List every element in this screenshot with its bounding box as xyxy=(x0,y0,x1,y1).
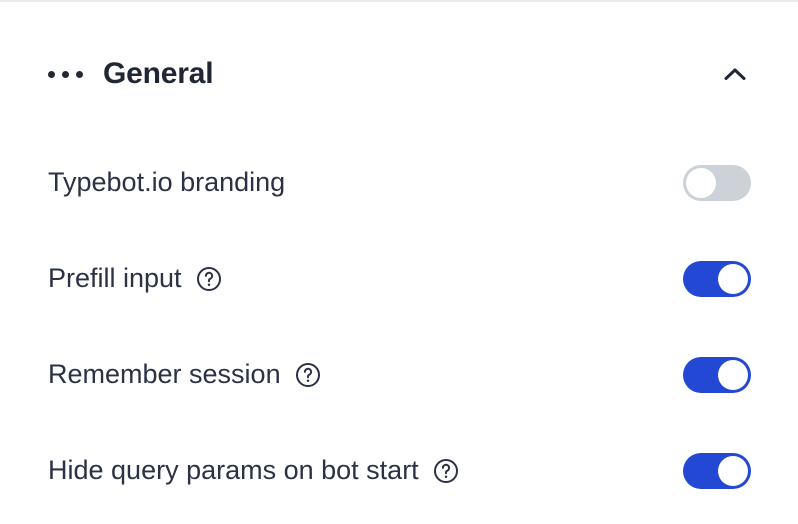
drag-dot xyxy=(76,71,83,78)
setting-label-group: Prefill input xyxy=(48,264,222,294)
setting-label: Hide query params on bot start xyxy=(48,456,419,486)
toggle-remember-session[interactable] xyxy=(683,357,751,393)
toggle-knob xyxy=(718,456,748,486)
general-settings-panel: General Typebot.io branding Prefill inpu… xyxy=(0,0,798,524)
help-circle-icon[interactable] xyxy=(433,458,459,484)
setting-label: Prefill input xyxy=(48,264,182,294)
setting-label-group: Typebot.io branding xyxy=(48,168,285,198)
chevron-up-icon xyxy=(724,67,746,81)
setting-label-group: Remember session xyxy=(48,360,321,390)
toggle-knob xyxy=(686,168,716,198)
toggle-knob xyxy=(718,264,748,294)
drag-dot xyxy=(62,71,69,78)
help-circle-icon[interactable] xyxy=(196,266,222,292)
setting-row-remember-session: Remember session xyxy=(0,327,798,423)
setting-label: Remember session xyxy=(48,360,281,390)
help-circle-icon[interactable] xyxy=(295,362,321,388)
collapse-section-button[interactable] xyxy=(718,57,752,91)
settings-list: Typebot.io branding Prefill input xyxy=(0,135,798,519)
toggle-typebot-branding[interactable] xyxy=(683,165,751,201)
setting-label: Typebot.io branding xyxy=(48,168,285,198)
toggle-knob xyxy=(718,360,748,390)
page-title: General xyxy=(103,59,213,89)
toggle-prefill-input[interactable] xyxy=(683,261,751,297)
drag-dot xyxy=(48,71,55,78)
setting-label-group: Hide query params on bot start xyxy=(48,456,459,486)
setting-row-hide-query-params: Hide query params on bot start xyxy=(0,423,798,519)
setting-row-typebot-branding: Typebot.io branding xyxy=(0,135,798,231)
toggle-hide-query-params[interactable] xyxy=(683,453,751,489)
setting-row-prefill-input: Prefill input xyxy=(0,231,798,327)
section-header-general: General xyxy=(0,40,798,108)
more-horizontal-icon[interactable] xyxy=(48,71,83,78)
